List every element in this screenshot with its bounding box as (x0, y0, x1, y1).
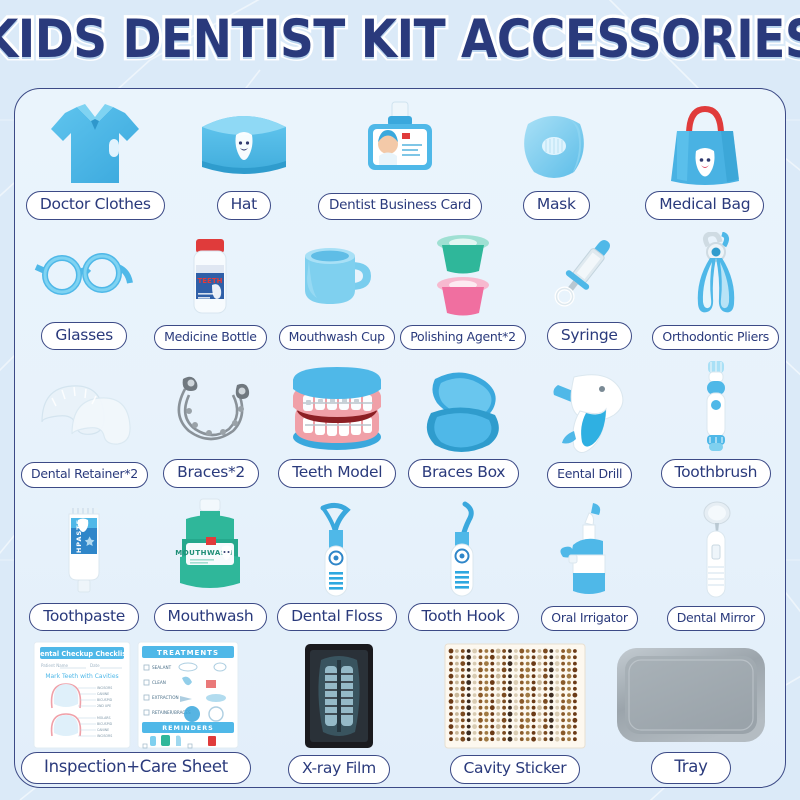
dental-floss-icon (274, 493, 400, 603)
product-item-xray-film[interactable]: X-ray Film (251, 636, 427, 788)
svg-text:CANINE: CANINE (97, 692, 109, 696)
teeth-model-icon (274, 355, 400, 459)
svg-text:Mark Teeth with Cavities: Mark Teeth with Cavities (45, 673, 118, 680)
medicine-bottle-icon: TEETH (147, 225, 273, 325)
braces-box-icon (400, 355, 526, 459)
svg-text:MOLARS: MOLARS (97, 716, 111, 720)
dental-drill-icon (527, 355, 653, 462)
product-label: Dental Floss (277, 603, 396, 632)
product-label: Toothbrush (661, 459, 772, 488)
product-item-dentist-business-card[interactable]: Dentist Business Card (318, 95, 482, 225)
polishing-agent-icon (400, 225, 526, 325)
svg-text:BICUSPID: BICUSPID (97, 722, 113, 726)
product-label: Polishing Agent*2 (400, 325, 526, 351)
oral-irrigator-icon (526, 493, 652, 606)
product-label: Mouthwash (154, 603, 268, 632)
tray-icon (603, 636, 779, 752)
dental-retainer-icon (21, 355, 148, 462)
product-item-polishing-agent[interactable]: Polishing Agent*2 (400, 225, 526, 356)
product-label: Eental Drill (547, 462, 632, 488)
header: KIDS DENTIST KIT ACCESSORIES (0, 0, 800, 78)
product-row: Dental Checkup Checklist Patient NameDat… (21, 636, 779, 788)
mouthwash-icon: MOUTHWASH (147, 493, 273, 603)
mouthwash-cup-icon (274, 225, 400, 325)
svg-text:Patient Name: Patient Name (41, 663, 69, 668)
product-item-dental-drill[interactable]: Eental Drill (527, 355, 653, 493)
product-label: Braces Box (408, 459, 519, 488)
product-item-mouthwash-cup[interactable]: Mouthwash Cup (274, 225, 400, 356)
product-label: Tooth Hook (408, 603, 519, 632)
product-label: Doctor Clothes (26, 191, 165, 220)
product-label: Inspection+Care Sheet (21, 752, 251, 784)
product-item-oral-irrigator[interactable]: Oral Irrigator (526, 493, 652, 637)
svg-text:CLEAN: CLEAN (152, 680, 166, 685)
svg-text:CANINE: CANINE (97, 728, 109, 732)
svg-text:SEALANT: SEALANT (152, 665, 172, 670)
product-item-hat[interactable]: Hat (170, 95, 319, 225)
toothpaste-icon: TOOTHPASTE (21, 493, 147, 603)
product-item-medicine-bottle[interactable]: TEETH Medicine Bottle (147, 225, 273, 356)
svg-text:Date: Date (90, 663, 100, 668)
svg-text:TREATMENTS: TREATMENTS (157, 649, 219, 657)
product-item-syringe[interactable]: Syringe (526, 225, 652, 356)
product-item-orthodontic-pliers[interactable]: Orthodontic Pliers (652, 225, 779, 356)
product-label: Braces*2 (163, 459, 259, 488)
product-item-toothpaste[interactable]: TOOTHPASTE Toothpaste (21, 493, 147, 637)
doctor-clothes-icon (21, 95, 170, 191)
product-label: Dentist Business Card (318, 193, 482, 220)
svg-text:REMINDERS: REMINDERS (162, 724, 214, 732)
product-item-toothbrush[interactable]: Toothbrush (653, 355, 779, 493)
toothbrush-icon (653, 355, 779, 459)
product-item-dental-floss[interactable]: Dental Floss (274, 493, 400, 637)
product-label: Teeth Model (278, 459, 396, 488)
product-item-cavity-sticker[interactable]: Cavity Sticker (427, 636, 603, 788)
dentist-business-card-icon (318, 95, 482, 193)
product-item-inspection-care-sheet[interactable]: Dental Checkup Checklist Patient NameDat… (21, 636, 251, 788)
svg-text:INCISORS: INCISORS (97, 734, 112, 738)
dental-mirror-icon (653, 493, 779, 606)
medical-bag-icon (631, 95, 780, 191)
product-row: Dental Retainer*2 (21, 355, 779, 493)
svg-text:EXTRACTION: EXTRACTION (152, 695, 179, 700)
mask-icon (482, 95, 631, 191)
product-item-mouthwash[interactable]: MOUTHWASH Mouthwash (147, 493, 273, 637)
product-row: Doctor Clothes (21, 95, 779, 225)
svg-text:Dental Checkup Checklist: Dental Checkup Checklist (35, 650, 130, 658)
page-title: KIDS DENTIST KIT ACCESSORIES (0, 8, 800, 70)
svg-text:INCISORS: INCISORS (97, 686, 112, 690)
orthodontic-pliers-icon (652, 225, 779, 325)
svg-text:TOOTHPASTE: TOOTHPASTE (75, 518, 83, 576)
product-label: Mouthwash Cup (279, 325, 395, 351)
product-label: X-ray Film (288, 755, 390, 784)
products-panel: Doctor Clothes (14, 88, 786, 788)
tooth-hook-icon (400, 493, 526, 603)
product-item-dental-mirror[interactable]: Dental Mirror (653, 493, 779, 637)
svg-text:2ND UPE: 2ND UPE (97, 704, 111, 708)
product-label: Tray (651, 752, 730, 784)
product-label: Medical Bag (645, 191, 764, 220)
product-item-braces[interactable]: Braces*2 (148, 355, 274, 493)
inspection-care-sheet-icon: Dental Checkup Checklist Patient NameDat… (21, 636, 251, 752)
glasses-icon (21, 225, 147, 322)
product-label: Orthodontic Pliers (652, 325, 779, 351)
product-label: Oral Irrigator (541, 606, 637, 632)
product-item-braces-box[interactable]: Braces Box (400, 355, 526, 493)
cavity-sticker-icon (427, 636, 603, 755)
svg-text:TEETH: TEETH (198, 277, 223, 285)
product-item-doctor-clothes[interactable]: Doctor Clothes (21, 95, 170, 225)
product-label: Glasses (41, 322, 126, 351)
product-item-medical-bag[interactable]: Medical Bag (631, 95, 780, 225)
braces-icon (148, 355, 274, 459)
product-item-tray[interactable]: Tray (603, 636, 779, 788)
product-item-mask[interactable]: Mask (482, 95, 631, 225)
product-label: Dental Retainer*2 (21, 462, 148, 488)
xray-film-icon (251, 636, 427, 755)
product-label: Dental Mirror (667, 606, 765, 632)
product-row: Glasses TEETH Medicine Bottle (21, 225, 779, 356)
product-label: Hat (217, 191, 271, 220)
syringe-icon (526, 225, 652, 322)
product-row: TOOTHPASTE Toothpaste (21, 493, 779, 637)
product-label: Cavity Sticker (450, 755, 581, 784)
product-item-tooth-hook[interactable]: Tooth Hook (400, 493, 526, 637)
product-item-glasses[interactable]: Glasses (21, 225, 147, 356)
product-label: Syringe (547, 322, 632, 351)
hat-icon (170, 95, 319, 191)
product-item-teeth-model[interactable]: Teeth Model (274, 355, 400, 493)
svg-text:BICUSPID: BICUSPID (97, 698, 113, 702)
product-label: Medicine Bottle (154, 325, 267, 351)
product-item-dental-retainer[interactable]: Dental Retainer*2 (21, 355, 148, 493)
product-label: Toothpaste (29, 603, 139, 632)
product-label: Mask (523, 191, 590, 220)
